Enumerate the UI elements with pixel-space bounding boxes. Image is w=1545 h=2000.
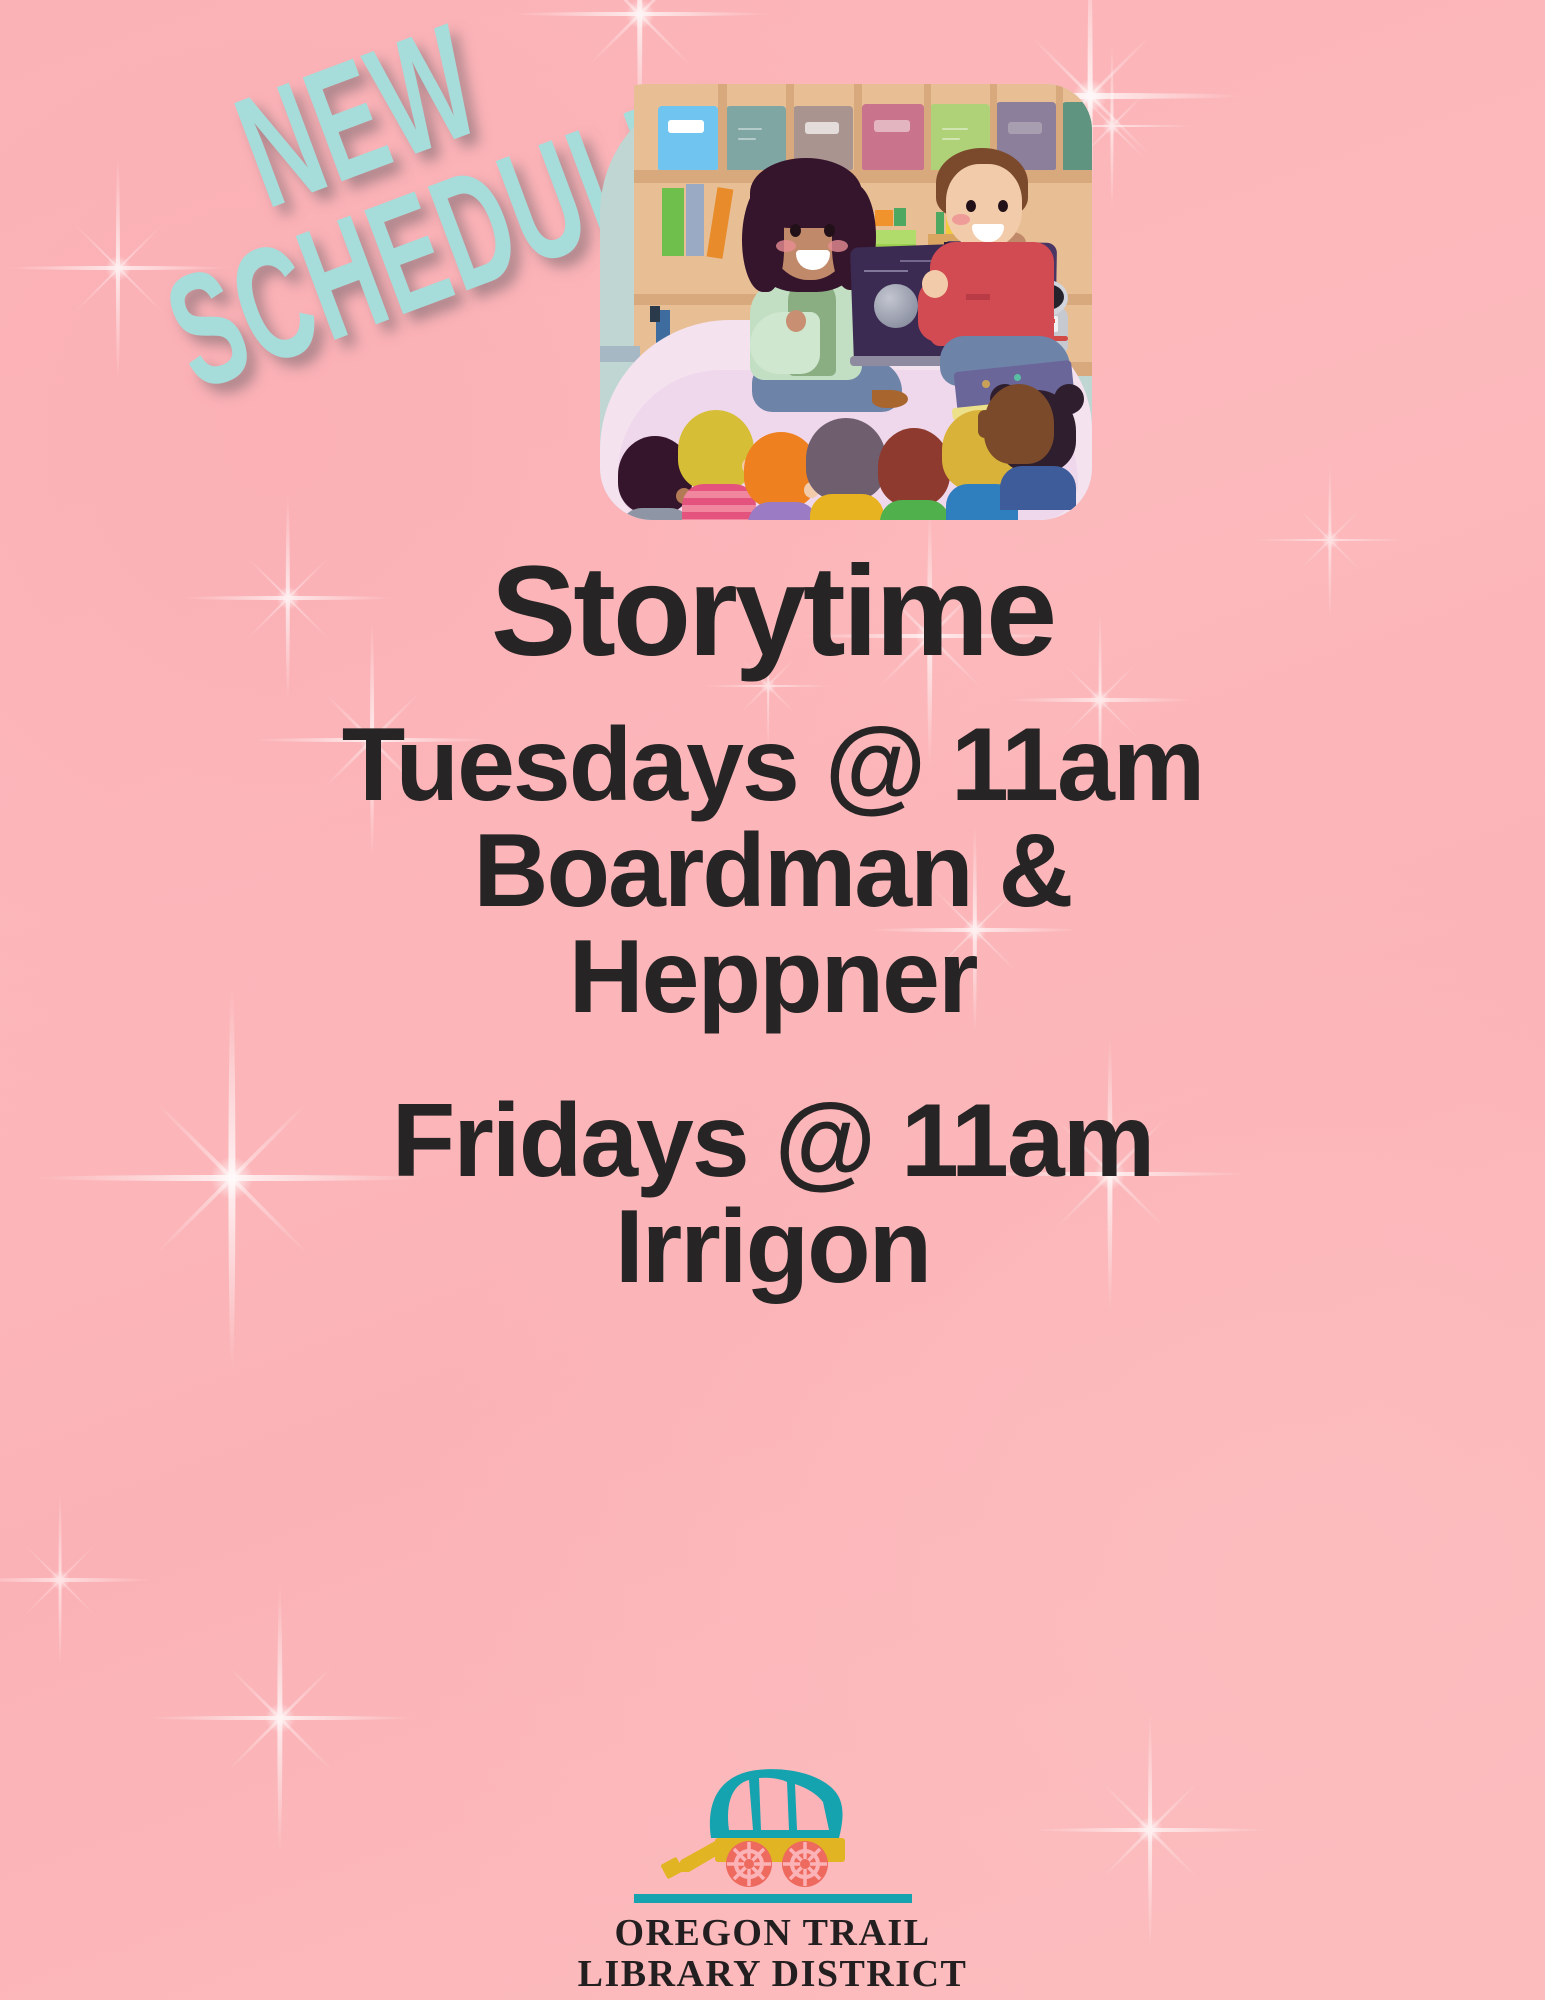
storage-bin bbox=[658, 106, 718, 170]
reader-eye bbox=[824, 224, 835, 237]
floor-book-dot bbox=[1014, 374, 1021, 381]
sparkle-ray bbox=[0, 1578, 152, 1581]
sparkle-ray bbox=[22, 1542, 98, 1618]
sparkle-core bbox=[265, 1703, 295, 1733]
schedule-where-2: Heppner bbox=[0, 924, 1545, 1030]
storytime-illustration bbox=[600, 84, 1092, 520]
book-star-line bbox=[900, 260, 934, 262]
shelf-post bbox=[786, 84, 794, 170]
sparkle-core bbox=[50, 1570, 70, 1590]
bin-line bbox=[942, 138, 960, 140]
schedule-when: Tuesdays @ 11am bbox=[0, 712, 1545, 818]
sparkle-core bbox=[1103, 117, 1121, 135]
sparkle-ray bbox=[1008, 698, 1192, 701]
floor-book-dot bbox=[982, 380, 990, 388]
sparkle-ray bbox=[224, 1662, 337, 1775]
logo-divider-rule bbox=[634, 1894, 912, 1903]
helper-hand bbox=[922, 270, 948, 298]
bin-line bbox=[942, 128, 968, 130]
shelf-post bbox=[1056, 84, 1063, 170]
upright-book bbox=[686, 184, 704, 256]
page-title: Storytime bbox=[0, 548, 1545, 676]
baseboard bbox=[600, 346, 640, 362]
book-planet bbox=[874, 284, 918, 328]
helper-eye bbox=[966, 200, 976, 212]
upright-book bbox=[662, 188, 684, 256]
child-braid-brown bbox=[978, 410, 992, 438]
schedule-when: Fridays @ 11am bbox=[0, 1088, 1545, 1194]
reader-hand bbox=[786, 310, 806, 332]
schedule-block-friday: Fridays @ 11am Irrigon bbox=[0, 1088, 1545, 1300]
reader-foot bbox=[872, 390, 908, 408]
bin-line bbox=[738, 138, 756, 140]
schedule-block-tuesday: Tuesdays @ 11am Boardman & Heppner bbox=[0, 712, 1545, 1030]
sparkle-ray bbox=[702, 685, 834, 687]
reader-arm bbox=[750, 312, 820, 374]
sparkle-ray bbox=[224, 1662, 337, 1775]
schedule-where: Boardman & bbox=[0, 818, 1545, 924]
sparkle-ray bbox=[58, 1488, 61, 1672]
toy-block bbox=[894, 208, 906, 226]
book-star-line bbox=[864, 270, 908, 272]
upright-folder bbox=[650, 306, 660, 322]
child-shirt bbox=[682, 484, 756, 520]
covered-wagon-icon bbox=[653, 1760, 893, 1890]
library-logo: OREGON TRAIL LIBRARY DISTRICT bbox=[0, 1760, 1545, 1995]
bin-label bbox=[874, 120, 910, 132]
reader-cheek bbox=[828, 240, 848, 252]
toy-block bbox=[875, 210, 893, 226]
bin-line bbox=[738, 128, 762, 130]
covered-wagon-svg bbox=[653, 1760, 893, 1890]
reader-hair-side bbox=[742, 188, 784, 292]
shelf-post bbox=[718, 84, 727, 170]
sparkle-ray bbox=[22, 1542, 98, 1618]
schedule-where: Irrigon bbox=[0, 1194, 1545, 1300]
shelf-post bbox=[854, 84, 862, 170]
helper-cheek bbox=[952, 214, 970, 225]
child-shirt bbox=[810, 494, 884, 520]
sparkle-ray bbox=[144, 1716, 416, 1721]
child-hair bbox=[678, 410, 754, 490]
sparkle-ray bbox=[1250, 539, 1410, 542]
bin-label bbox=[668, 120, 704, 133]
storage-bin bbox=[862, 104, 924, 170]
child-shirt bbox=[1000, 466, 1076, 510]
bin-label bbox=[805, 122, 839, 134]
logo-line-2: LIBRARY DISTRICT bbox=[0, 1954, 1545, 1995]
reader-cheek bbox=[776, 240, 796, 252]
helper-eye bbox=[998, 200, 1008, 212]
child-shirt bbox=[880, 500, 950, 520]
bin-label bbox=[1008, 122, 1042, 134]
child-puff bbox=[1054, 384, 1084, 414]
storage-bin bbox=[726, 106, 786, 170]
sparkle-ray bbox=[1111, 42, 1114, 210]
storage-bin bbox=[1062, 102, 1092, 170]
child-hair bbox=[806, 418, 886, 500]
child-shirt bbox=[748, 502, 818, 520]
poster-canvas: NEW SCHEDULE! bbox=[0, 0, 1545, 2000]
shelf-post bbox=[924, 84, 931, 170]
sparkle-core bbox=[1321, 531, 1339, 549]
child-hair-brown bbox=[984, 384, 1054, 464]
child-hair bbox=[878, 428, 950, 506]
reader-eye bbox=[790, 224, 801, 237]
logo-line-1: OREGON TRAIL bbox=[0, 1913, 1545, 1954]
